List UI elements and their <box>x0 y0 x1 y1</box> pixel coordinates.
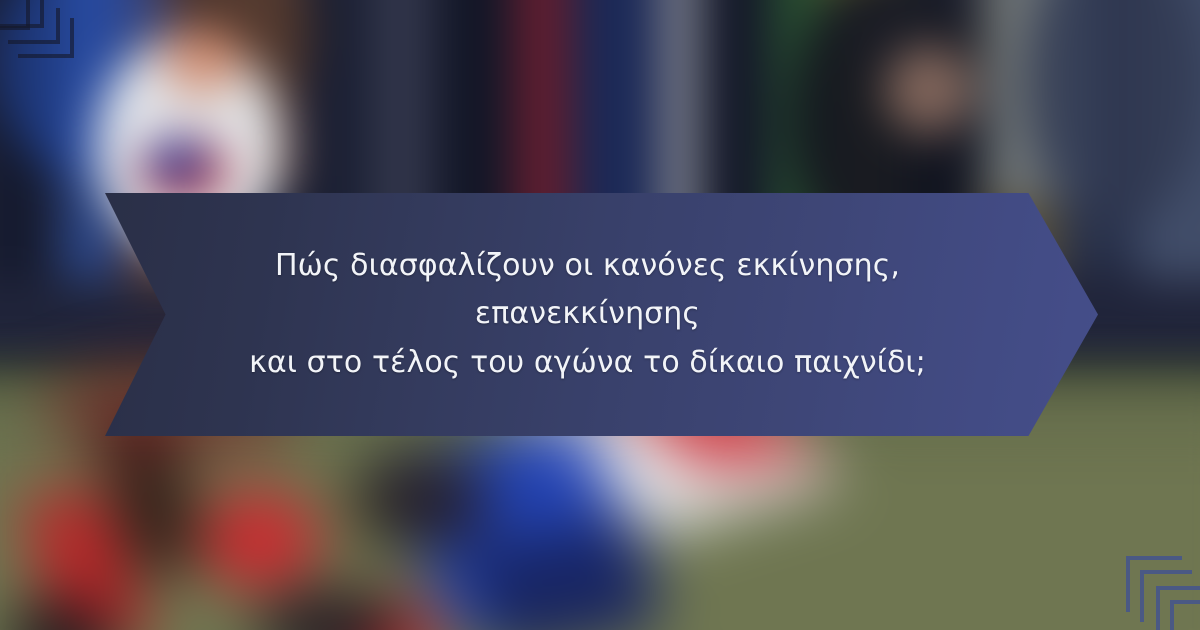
banner-question-text: Πώς διασφαλίζουν οι κανόνες εκκίνησης, ε… <box>188 242 1016 388</box>
share-card: Πώς διασφαλίζουν οι κανόνες εκκίνησης, ε… <box>0 0 1200 630</box>
question-banner: Πώς διασφαλίζουν οι κανόνες εκκίνησης, ε… <box>105 193 1098 436</box>
